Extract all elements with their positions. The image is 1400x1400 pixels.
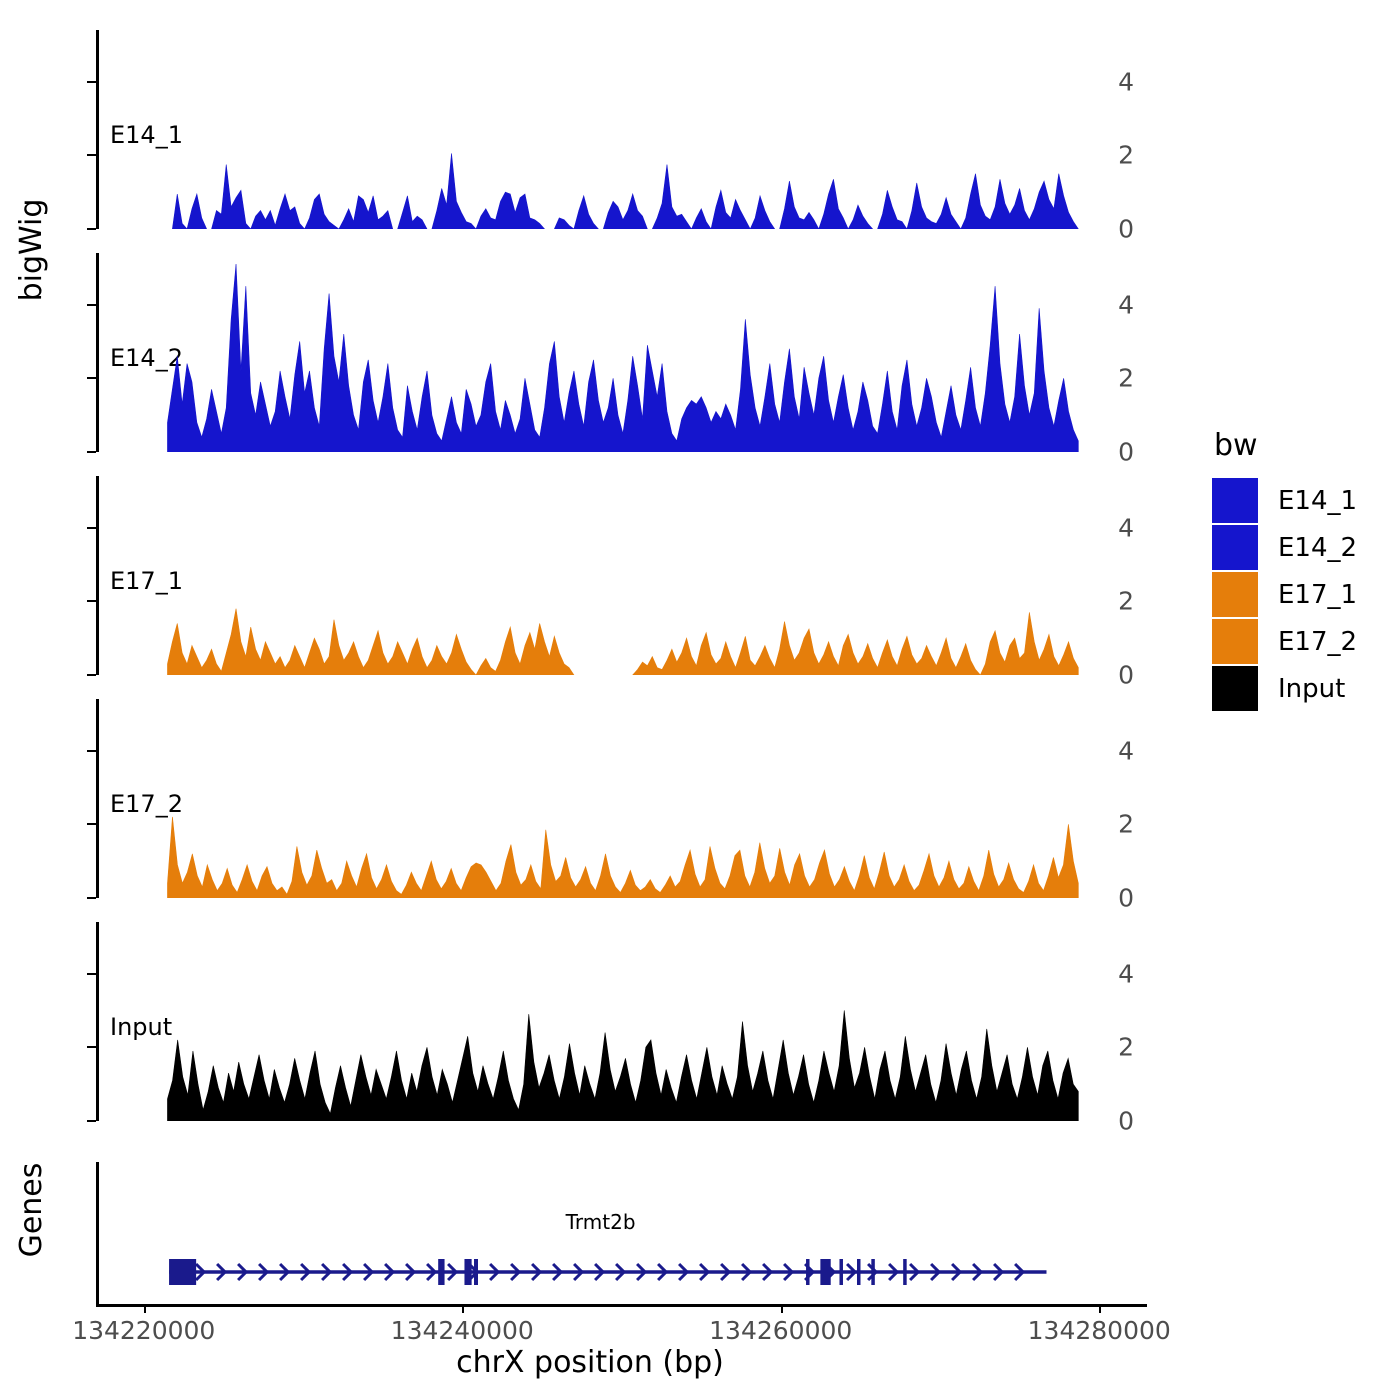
figure-root: bigWig Genes 024E14_1024E14_2024E17_1024… — [0, 0, 1400, 1400]
y-axis-tick — [87, 1120, 96, 1122]
signal-area-E17_1 — [99, 476, 1150, 675]
y-axis-tick — [87, 674, 96, 676]
gene-label-Trmt2b: Trmt2b — [566, 1210, 636, 1234]
legend-swatch-E17_1 — [1212, 572, 1258, 617]
legend-item-E14_1[interactable]: E14_1 — [1212, 477, 1357, 524]
x-axis-tick-label: 134240000 — [391, 1316, 534, 1345]
y-axis-tick — [87, 228, 96, 230]
legend-swatch-E17_2 — [1212, 619, 1258, 664]
track-panel-E17_1: 024E17_1 — [96, 476, 1150, 675]
signal-area-E14_2 — [99, 253, 1150, 452]
x-axis-tick — [781, 1304, 783, 1313]
y-axis-tick — [87, 750, 96, 752]
y-axis-tick — [87, 823, 96, 825]
legend-label-E17_2: E17_2 — [1278, 627, 1357, 657]
x-axis-tick-label: 134260000 — [709, 1316, 852, 1345]
legend-items: E14_1E14_2E17_1E17_2Input — [1212, 477, 1357, 712]
y-axis-tick — [87, 377, 96, 379]
track-panel-E14_1: 024E14_1 — [96, 30, 1150, 229]
signal-area-Input — [99, 922, 1150, 1121]
legend-label-E17_1: E17_1 — [1278, 580, 1357, 610]
x-axis-line — [96, 1304, 1147, 1307]
legend: bw E14_1E14_2E17_1E17_2Input — [1212, 428, 1357, 712]
y-axis-tick — [87, 304, 96, 306]
track-panel-E14_2: 024E14_2 — [96, 253, 1150, 452]
genes-panel: Trmt2b — [96, 1162, 1150, 1304]
signal-area-E17_2 — [99, 699, 1150, 898]
x-axis-tick — [1099, 1304, 1101, 1313]
y-axis-tick — [87, 451, 96, 453]
legend-label-E14_2: E14_2 — [1278, 533, 1357, 563]
y-axis-tick — [87, 1046, 96, 1048]
y-axis-title-bigwig: bigWig — [14, 110, 49, 390]
legend-item-E17_2[interactable]: E17_2 — [1212, 618, 1357, 665]
track-panel-Input: 024Input — [96, 922, 1150, 1121]
x-axis-tick — [144, 1304, 146, 1313]
y-axis-tick — [87, 81, 96, 83]
y-axis-tick — [87, 600, 96, 602]
legend-label-Input: Input — [1278, 674, 1345, 704]
legend-swatch-E14_2 — [1212, 525, 1258, 570]
x-axis-tick — [462, 1304, 464, 1313]
legend-swatch-E14_1 — [1212, 478, 1258, 523]
y-axis-tick — [87, 973, 96, 975]
legend-label-E14_1: E14_1 — [1278, 486, 1357, 516]
y-axis-tick — [87, 897, 96, 899]
signal-area-E14_1 — [99, 30, 1150, 229]
legend-item-E14_2[interactable]: E14_2 — [1212, 524, 1357, 571]
x-axis-tick-label: 134220000 — [72, 1316, 215, 1345]
y-axis-title-genes: Genes — [14, 1150, 49, 1270]
y-axis-tick — [87, 154, 96, 156]
x-axis-tick-label: 134280000 — [1028, 1316, 1171, 1345]
legend-swatch-Input — [1212, 666, 1258, 711]
y-axis-tick — [87, 527, 96, 529]
legend-item-Input[interactable]: Input — [1212, 665, 1357, 712]
x-axis-title: chrX position (bp) — [0, 1345, 1180, 1380]
legend-item-E17_1[interactable]: E17_1 — [1212, 571, 1357, 618]
legend-title: bw — [1214, 428, 1357, 463]
track-panel-E17_2: 024E17_2 — [96, 699, 1150, 898]
